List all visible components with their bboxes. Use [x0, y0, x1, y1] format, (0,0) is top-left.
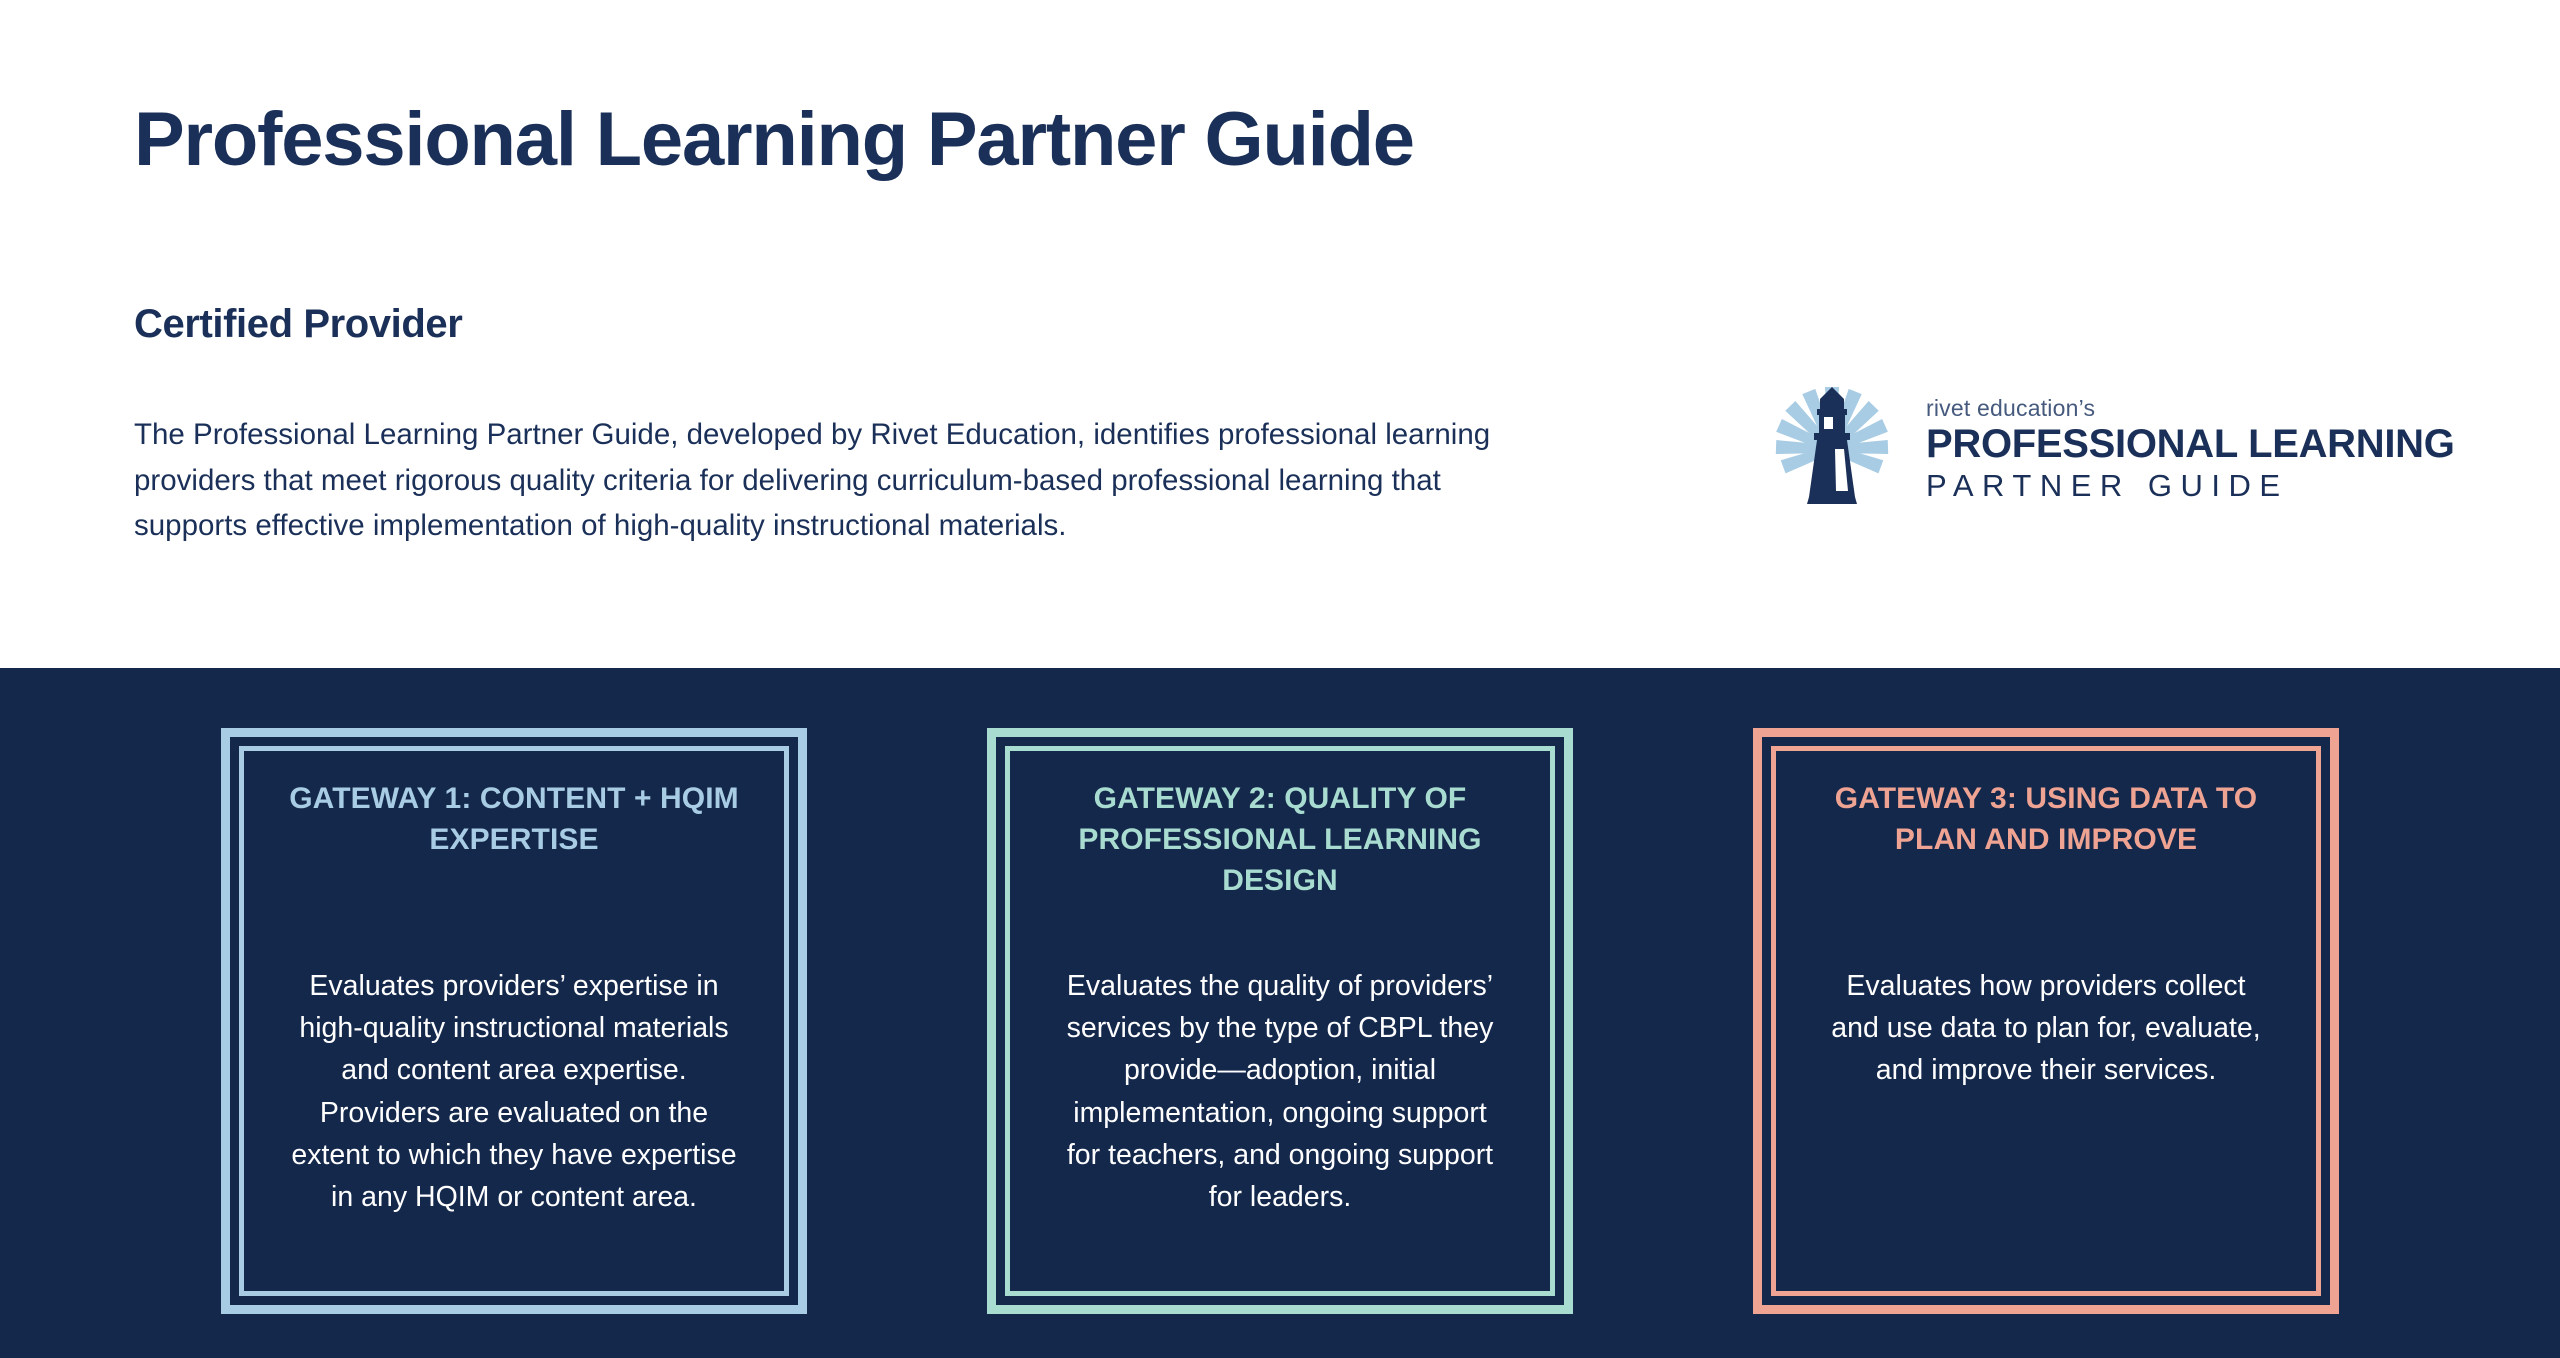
logo-text-block: rivet education’s PROFESSIONAL LEARNING … [1926, 390, 2455, 505]
gateway-card-3: GATEWAY 3: USING DATA TO PLAN AND IMPROV… [1753, 728, 2339, 1314]
page-root: Professional Learning Partner Guide Cert… [0, 0, 2560, 1358]
gateway-card-3-inner: GATEWAY 3: USING DATA TO PLAN AND IMPROV… [1771, 746, 2321, 1296]
logo-subtitle: PARTNER GUIDE [1926, 467, 2455, 504]
lighthouse-icon [1760, 375, 1904, 519]
gateway-card-2-inner: GATEWAY 2: QUALITY OF PROFESSIONAL LEARN… [1005, 746, 1555, 1296]
hero-section: Professional Learning Partner Guide Cert… [0, 0, 2560, 668]
gateway-card-1-body: Evaluates providers’ expertise in high-q… [270, 965, 758, 1218]
gateways-section: GATEWAY 1: CONTENT + HQIM EXPERTISE Eval… [0, 668, 2560, 1358]
page-title: Professional Learning Partner Guide [134, 100, 1414, 181]
gateway-card-3-title: GATEWAY 3: USING DATA TO PLAN AND IMPROV… [1802, 779, 2290, 861]
gateway-card-2: GATEWAY 2: QUALITY OF PROFESSIONAL LEARN… [987, 728, 1573, 1314]
gateway-card-1-title: GATEWAY 1: CONTENT + HQIM EXPERTISE [270, 779, 758, 861]
intro-paragraph: The Professional Learning Partner Guide,… [134, 412, 1534, 549]
section-heading-certified-provider: Certified Provider [134, 302, 462, 347]
gateway-cards-row: GATEWAY 1: CONTENT + HQIM EXPERTISE Eval… [0, 728, 2560, 1314]
gateway-card-1-inner: GATEWAY 1: CONTENT + HQIM EXPERTISE Eval… [239, 746, 789, 1296]
logo-main-title: PROFESSIONAL LEARNING [1926, 422, 2455, 467]
gateway-card-2-body: Evaluates the quality of providers’ serv… [1036, 965, 1524, 1218]
gateway-card-3-body: Evaluates how providers collect and use … [1802, 965, 2290, 1092]
logo-eyebrow: rivet education’s [1926, 394, 2455, 423]
gateway-card-2-title: GATEWAY 2: QUALITY OF PROFESSIONAL LEARN… [1036, 779, 1524, 901]
gateway-card-1: GATEWAY 1: CONTENT + HQIM EXPERTISE Eval… [221, 728, 807, 1314]
plpg-logo: rivet education’s PROFESSIONAL LEARNING … [1760, 372, 2360, 522]
